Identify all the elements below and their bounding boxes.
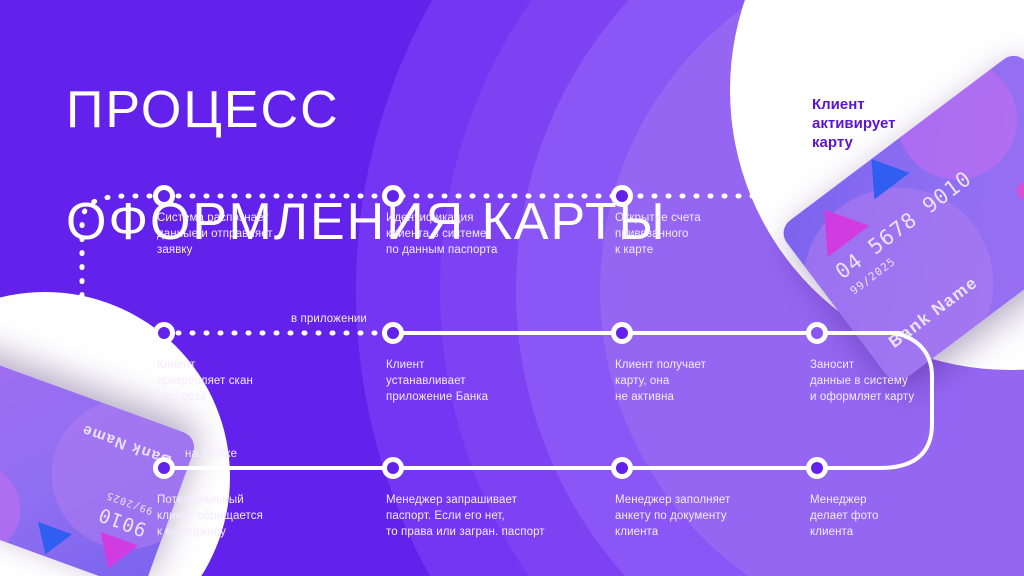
node-row2-step1[interactable] — [153, 322, 175, 344]
node-row2-step3[interactable] — [611, 322, 633, 344]
page-title-line-1: ПРОЦЕСС — [66, 82, 786, 138]
step-row3-3: Менеджер заполняет анкету по документу к… — [615, 492, 815, 540]
node-row1-step3[interactable] — [611, 185, 633, 207]
step-row2-2: Клиент устанавливает приложение Банка — [386, 357, 601, 405]
node-row3-step4[interactable] — [806, 457, 828, 479]
step-row2-1: Клиент прикрепляет скан паспорта — [157, 357, 372, 405]
step-row1-3: Открытие счета привязанного к карте — [615, 210, 830, 258]
step-row3-1: Потенциальный клиент обращается к менедж… — [157, 492, 372, 540]
step-row1-2: Идентификация клиента в системе по данны… — [386, 210, 601, 258]
node-row3-step3[interactable] — [611, 457, 633, 479]
step-row1-1: Система распознает данные и отправляет з… — [157, 210, 372, 258]
page-title: ПРОЦЕСС ОФОРМЛЕНИЯ КАРТЫ — [66, 26, 786, 306]
step-row3-4: Менеджер делает фото клиента — [810, 492, 960, 540]
step-row2-3: Клиент получает карту, она не активна — [615, 357, 805, 405]
node-row1-step1[interactable] — [153, 185, 175, 207]
step-row3-2: Менеджер запрашивает паспорт. Если его н… — [386, 492, 611, 540]
segment-label-row3: на стойке — [185, 446, 237, 462]
node-row2-step4[interactable] — [806, 322, 828, 344]
step-row2-4: Заносит данные в систему и оформляет кар… — [810, 357, 960, 405]
callout-client-activates-card: Клиент активирует карту — [812, 95, 972, 152]
segment-label-row2: в приложении — [291, 311, 367, 327]
node-row2-step2[interactable] — [382, 322, 404, 344]
infographic-slide: 04 5678 9010 99/2025 Bank Name 9010 99/2… — [0, 0, 1024, 576]
node-row3-step1[interactable] — [153, 457, 175, 479]
node-row3-step2[interactable] — [382, 457, 404, 479]
node-row1-step2[interactable] — [382, 185, 404, 207]
card-blob — [1014, 142, 1024, 251]
